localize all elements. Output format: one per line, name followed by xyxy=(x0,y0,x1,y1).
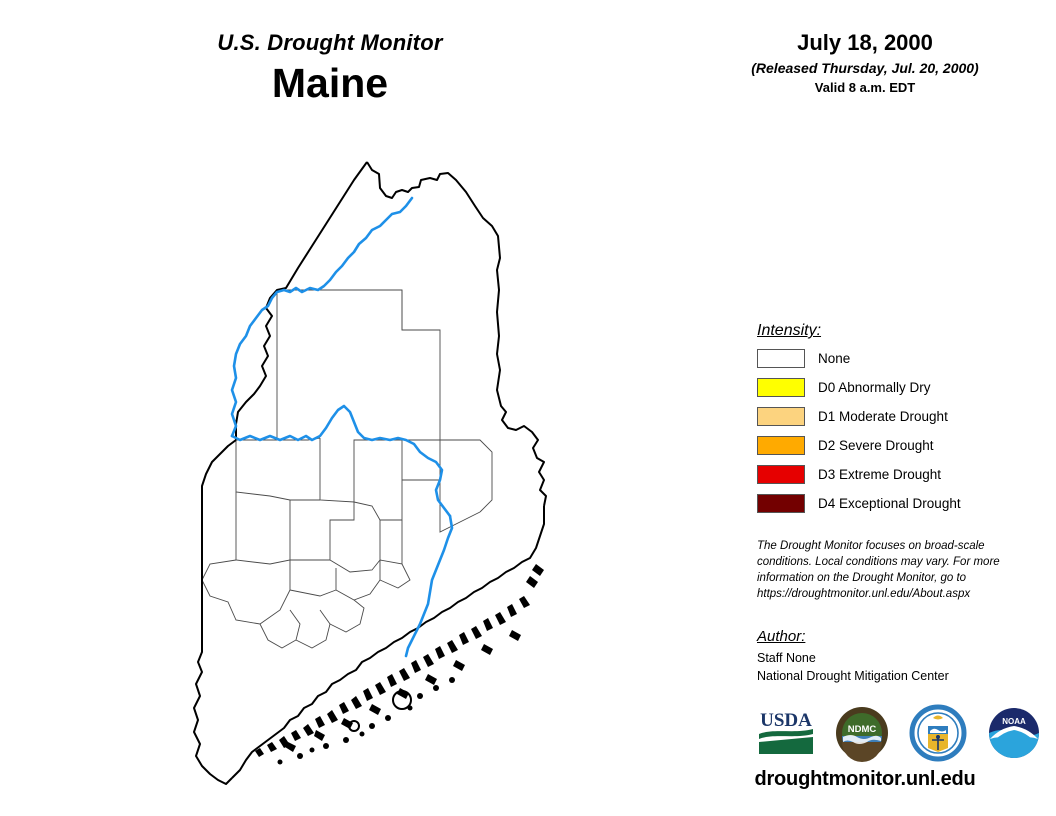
legend-label-d3: D3 Extreme Drought xyxy=(818,467,941,482)
release-date: (Released Thursday, Jul. 20, 2000) xyxy=(690,60,1040,76)
legend-swatch-d4 xyxy=(757,494,805,513)
legend-swatch-d2 xyxy=(757,436,805,455)
legend-swatch-d1 xyxy=(757,407,805,426)
legend-item-d0[interactable]: D0 Abnormally Dry xyxy=(757,377,1037,398)
usda-logo-text: USDA xyxy=(760,710,812,731)
legend-item-none[interactable]: None xyxy=(757,348,1037,369)
disclaimer-line-2: conditions. Local conditions may vary. F… xyxy=(757,555,1027,571)
author-title: Author: xyxy=(757,628,1037,645)
noaa-logo-text: NOAA xyxy=(1002,717,1026,726)
program-title: U.S. Drought Monitor xyxy=(0,30,660,56)
legend-swatch-d3 xyxy=(757,465,805,484)
date-block: July 18, 2000 (Released Thursday, Jul. 2… xyxy=(690,30,1040,95)
valid-time: Valid 8 a.m. EDT xyxy=(690,80,1040,95)
valid-date: July 18, 2000 xyxy=(690,30,1040,56)
map-layers xyxy=(170,162,546,784)
disclaimer-text: The Drought Monitor focuses on broad-sca… xyxy=(757,539,1027,602)
legend-swatch-none xyxy=(757,349,805,368)
maine-drought-map[interactable] xyxy=(140,140,660,800)
usda-logo[interactable]: USDA xyxy=(755,704,817,762)
coastline xyxy=(232,506,544,778)
disclaimer-line-3: information on the Drought Monitor, go t… xyxy=(757,571,1027,587)
legend-item-d3[interactable]: D3 Extreme Drought xyxy=(757,464,1037,485)
legend-swatch-d0 xyxy=(757,378,805,397)
author-name: Staff None xyxy=(757,650,1037,668)
state-title: Maine xyxy=(0,62,660,105)
author-organization: National Drought Mitigation Center xyxy=(757,668,1037,686)
logo-row: USDA NDMC xyxy=(755,702,1045,764)
ndmc-logo[interactable]: NDMC xyxy=(831,704,893,762)
legend-label-d4: D4 Exceptional Drought xyxy=(818,496,961,511)
legend-label-d0: D0 Abnormally Dry xyxy=(818,380,931,395)
noaa-logo[interactable]: NOAA xyxy=(983,704,1045,762)
legend-item-d4[interactable]: D4 Exceptional Drought xyxy=(757,493,1037,514)
disclaimer-line-1: The Drought Monitor focuses on broad-sca… xyxy=(757,539,1027,555)
author-block: Author: Staff None National Drought Miti… xyxy=(757,628,1037,686)
ndmc-logo-text: NDMC xyxy=(848,724,877,735)
legend-label-none: None xyxy=(818,351,850,366)
legend: Intensity: None D0 Abnormally Dry D1 Mod… xyxy=(757,322,1037,522)
penobscot-river xyxy=(406,516,452,656)
legend-item-d1[interactable]: D1 Moderate Drought xyxy=(757,406,1037,427)
legend-title: Intensity: xyxy=(757,322,1037,340)
site-url[interactable]: droughtmonitor.unl.edu xyxy=(690,768,1040,791)
disclaimer-about-link[interactable]: https://droughtmonitor.unl.edu/About.asp… xyxy=(757,587,1027,603)
legend-label-d2: D2 Severe Drought xyxy=(818,438,934,453)
usda-seal-logo[interactable] xyxy=(907,704,969,762)
legend-label-d1: D1 Moderate Drought xyxy=(818,409,948,424)
legend-item-d2[interactable]: D2 Severe Drought xyxy=(757,435,1037,456)
state-fill-none xyxy=(170,162,546,778)
coastal-islands xyxy=(255,564,544,765)
